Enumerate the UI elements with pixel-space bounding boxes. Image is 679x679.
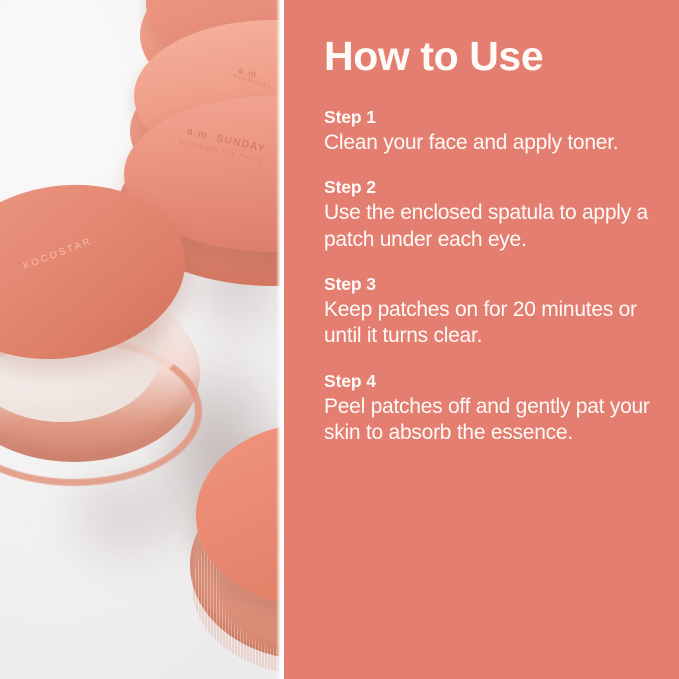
step-4-body: Peel patches off and gently pat your ski…: [324, 394, 661, 447]
page-title: How to Use: [324, 36, 661, 77]
product-how-to-use-graphic: a.m. HYDROGEL a.m. SUNDAY HYDROGEL EYE P…: [0, 0, 679, 679]
step-3-body: Keep patches on for 20 minutes or until …: [324, 297, 661, 350]
step-4-label: Step 4: [324, 371, 661, 393]
step-1-body: Clean your face and apply toner.: [324, 130, 661, 156]
step-item-1: Step 1 Clean your face and apply toner.: [324, 107, 661, 156]
step-item-4: Step 4 Peel patches off and gently pat y…: [324, 371, 661, 447]
instructions-content: How to Use Step 1 Clean your face and ap…: [324, 36, 661, 447]
step-item-3: Step 3 Keep patches on for 20 minutes or…: [324, 274, 661, 350]
photo-panel-edge-highlight: [276, 0, 284, 679]
product-photo-panel: a.m. HYDROGEL a.m. SUNDAY HYDROGEL EYE P…: [0, 0, 284, 679]
kocostar-brand-mark: KOCOSTAR: [22, 236, 94, 273]
instructions-panel: How to Use Step 1 Clean your face and ap…: [284, 0, 679, 679]
step-1-label: Step 1: [324, 107, 661, 129]
step-2-body: Use the enclosed spatula to apply a patc…: [324, 200, 661, 253]
step-2-label: Step 2: [324, 177, 661, 199]
step-item-2: Step 2 Use the enclosed spatula to apply…: [324, 177, 661, 253]
step-3-label: Step 3: [324, 274, 661, 296]
